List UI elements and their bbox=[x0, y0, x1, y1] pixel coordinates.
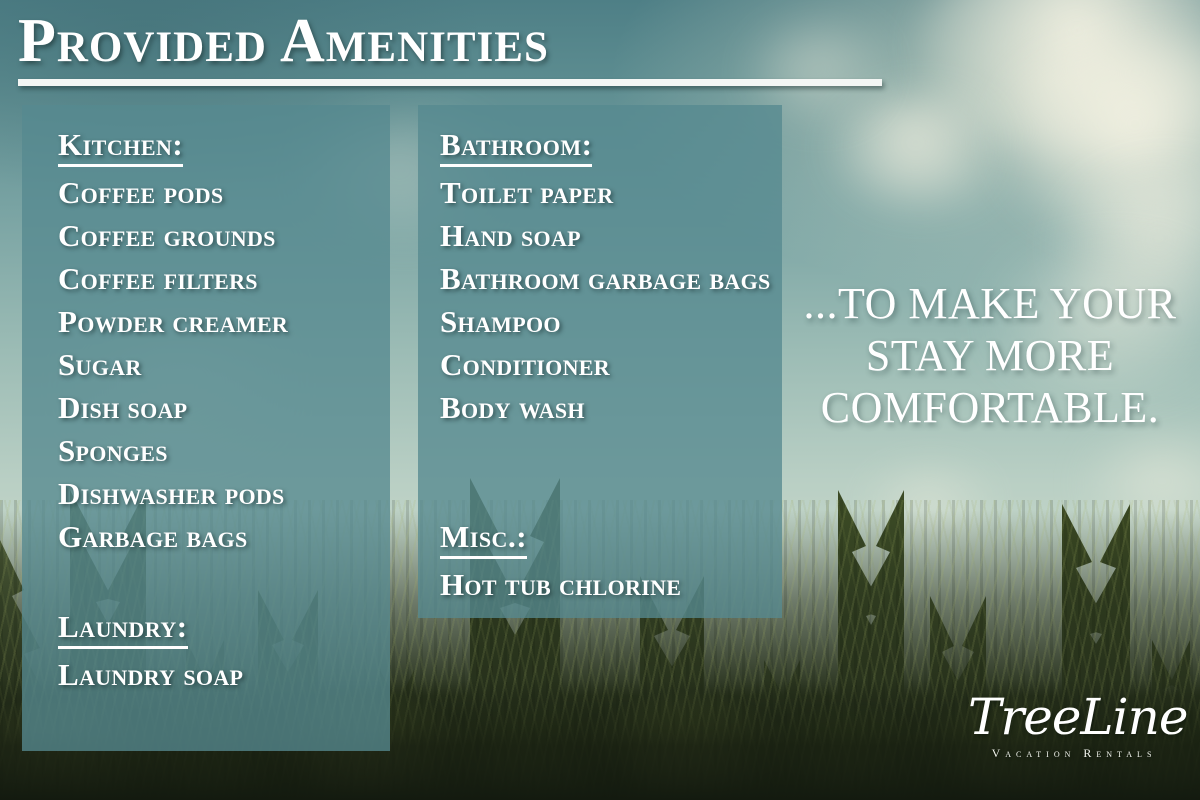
brand-name: TreeLine bbox=[968, 690, 1180, 744]
brand-logo: TreeLine Vacation Rentals bbox=[968, 690, 1180, 761]
brand-subtitle: Vacation Rentals bbox=[968, 746, 1180, 761]
list-item: Bathroom garbage bags bbox=[440, 257, 780, 300]
list-item: Coffee filters bbox=[58, 257, 388, 300]
list-item: Dish soap bbox=[58, 386, 388, 429]
list-item: Hot tub chlorine bbox=[440, 563, 780, 606]
amenities-poster: Provided Amenities Kitchen: Coffee pods … bbox=[0, 0, 1200, 800]
section-kitchen: Kitchen: Coffee pods Coffee grounds Coff… bbox=[58, 126, 388, 558]
list-item: Sugar bbox=[58, 343, 388, 386]
list-item: Toilet paper bbox=[440, 171, 780, 214]
list-item: Body wash bbox=[440, 386, 780, 429]
list-item: Powder creamer bbox=[58, 300, 388, 343]
page-title-text: Provided Amenities bbox=[18, 8, 898, 75]
list-item: Dishwasher pods bbox=[58, 472, 388, 515]
section-misc: Misc.: Hot tub chlorine bbox=[440, 518, 780, 606]
list-item: Coffee grounds bbox=[58, 214, 388, 257]
section-heading-misc: Misc.: bbox=[440, 518, 527, 559]
amenity-list-kitchen: Coffee pods Coffee grounds Coffee filter… bbox=[58, 171, 388, 558]
amenity-list-bathroom: Toilet paper Hand soap Bathroom garbage … bbox=[440, 171, 780, 429]
title-underline bbox=[18, 79, 882, 86]
amenity-list-misc: Hot tub chlorine bbox=[440, 563, 780, 606]
list-item: Coffee pods bbox=[58, 171, 388, 214]
amenity-list-laundry: Laundry soap bbox=[58, 653, 388, 696]
list-item: Shampoo bbox=[440, 300, 780, 343]
tagline-text: ...to make your stay more comfortable. bbox=[786, 278, 1194, 434]
list-item: Hand soap bbox=[440, 214, 780, 257]
list-item: Garbage bags bbox=[58, 515, 388, 558]
section-bathroom: Bathroom: Toilet paper Hand soap Bathroo… bbox=[440, 126, 780, 429]
section-laundry: Laundry: Laundry soap bbox=[58, 608, 388, 696]
list-item: Conditioner bbox=[440, 343, 780, 386]
list-item: Laundry soap bbox=[58, 653, 388, 696]
page-title: Provided Amenities bbox=[18, 8, 898, 86]
section-heading-bathroom: Bathroom: bbox=[440, 126, 592, 167]
list-item: Sponges bbox=[58, 429, 388, 472]
section-heading-laundry: Laundry: bbox=[58, 608, 188, 649]
section-heading-kitchen: Kitchen: bbox=[58, 126, 183, 167]
